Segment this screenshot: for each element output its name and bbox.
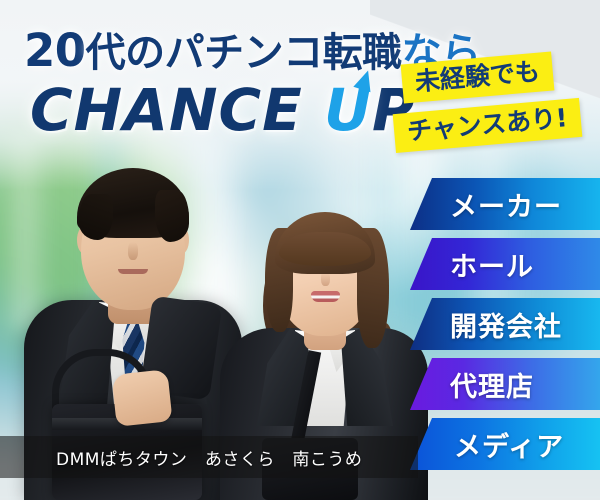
woman-mouth: [311, 291, 340, 302]
man-hair: [77, 168, 189, 238]
credits-text: DMMぱちタウン あさくら 南こうめ: [0, 445, 362, 470]
logo-word-chance: CHANCE: [30, 76, 303, 144]
headline-number: 20: [24, 24, 86, 77]
category-hall[interactable]: ホール: [410, 238, 600, 290]
category-media-label: メディア: [410, 425, 564, 464]
category-hall-label: ホール: [410, 245, 534, 284]
category-media[interactable]: メディア: [410, 418, 600, 470]
credits-bar: DMMぱちタウン あさくら 南こうめ: [0, 436, 418, 478]
man-mouth: [118, 269, 148, 274]
category-maker[interactable]: メーカー: [410, 178, 600, 230]
ad-banner: 20代のパチンコ転職なら CHANCE UP 未経験でも チャンスあり! メーカ…: [0, 0, 600, 500]
logo-letter-u: U: [324, 76, 372, 144]
category-agency[interactable]: 代理店: [410, 358, 600, 410]
category-developer-label: 開発会社: [410, 305, 562, 344]
man-nose: [128, 242, 138, 260]
man-hand: [111, 369, 172, 427]
woman-bangs: [279, 232, 371, 266]
category-maker-label: メーカー: [410, 185, 562, 224]
headline-main: 代のパチンコ転職: [86, 30, 402, 76]
category-developer[interactable]: 開発会社: [410, 298, 600, 350]
chance-up-logo: CHANCE UP: [30, 76, 416, 144]
category-agency-label: 代理店: [410, 365, 534, 404]
category-list: メーカー ホール 開発会社 代理店 メディア: [410, 178, 600, 478]
